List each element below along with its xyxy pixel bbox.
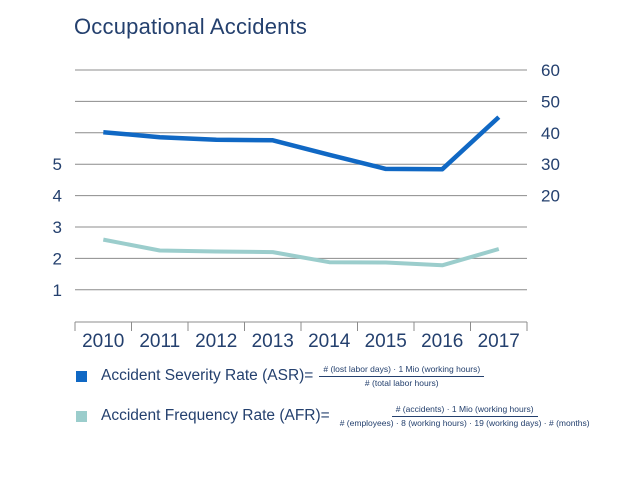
- x-axis-year-label: 2011: [139, 331, 180, 350]
- left-axis-tick-label: 3: [53, 218, 62, 237]
- x-axis-year-label: 2012: [195, 331, 237, 350]
- x-axis-year-label: 2016: [421, 331, 463, 350]
- afr-swatch-icon: [76, 411, 87, 422]
- asr-series-line: [103, 117, 499, 169]
- chart-container: Occupational Accidents 12345 2030405060 …: [0, 0, 640, 496]
- legend-item-afr: Accident Frequency Rate (AFR)= # (accide…: [76, 396, 636, 436]
- legend-label-afr: Accident Frequency Rate (AFR)=: [101, 407, 330, 425]
- x-axis-year-label: 2013: [252, 331, 294, 350]
- afr-formula: # (accidents) · 1 Mio (working hours) # …: [336, 404, 594, 428]
- asr-swatch-icon: [76, 371, 87, 382]
- x-axis-year-label: 2014: [308, 331, 351, 350]
- asr-formula: # (lost labor days) · 1 Mio (working hou…: [319, 364, 484, 388]
- left-axis-tick-label: 2: [53, 249, 62, 268]
- asr-formula-denominator: # (total labor hours): [361, 377, 443, 389]
- x-axis-year-label: 2015: [365, 331, 407, 350]
- afr-formula-numerator: # (accidents) · 1 Mio (working hours): [392, 404, 538, 417]
- left-axis-tick-label: 1: [53, 281, 62, 300]
- left-axis-tick-label: 4: [53, 187, 62, 206]
- left-axis-tick-label: 5: [53, 155, 62, 174]
- left-axis-labels-group: 12345: [53, 155, 62, 300]
- legend-label-asr: Accident Severity Rate (ASR)=: [101, 367, 313, 385]
- right-axis-tick-label: 40: [541, 124, 560, 143]
- x-tick-labels-group: 20102011201220132014201520162017: [82, 331, 520, 350]
- x-axis-year-label: 2017: [478, 331, 520, 350]
- legend-item-asr: Accident Severity Rate (ASR)= # (lost la…: [76, 356, 636, 396]
- series-lines-group: [103, 117, 499, 265]
- right-axis-labels-group: 2030405060: [541, 61, 560, 206]
- asr-formula-numerator: # (lost labor days) · 1 Mio (working hou…: [319, 364, 484, 377]
- right-axis-tick-label: 50: [541, 92, 560, 111]
- afr-series-line: [103, 240, 499, 266]
- right-axis-tick-label: 60: [541, 61, 560, 80]
- chart-legend: Accident Severity Rate (ASR)= # (lost la…: [76, 356, 636, 436]
- x-axis-year-label: 2010: [82, 331, 124, 350]
- right-axis-tick-label: 20: [541, 187, 560, 206]
- x-axis-group: [75, 322, 527, 331]
- line-chart-plot: 12345 2030405060 20102011201220132014201…: [0, 0, 640, 350]
- right-axis-tick-label: 30: [541, 155, 560, 174]
- afr-formula-denominator: # (employees) · 8 (working hours) · 19 (…: [336, 417, 594, 429]
